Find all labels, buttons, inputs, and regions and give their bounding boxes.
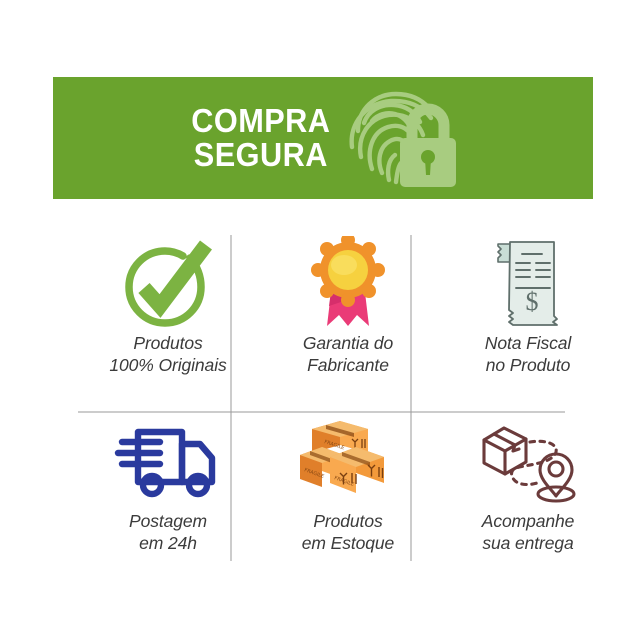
check-circle-icon bbox=[120, 238, 216, 330]
feature-label-line2: em Estoque bbox=[302, 533, 394, 555]
award-ribbon-icon bbox=[305, 236, 391, 332]
banner-title-line1: COMPRA bbox=[191, 104, 330, 138]
feature-label-line2: em 24h bbox=[129, 533, 207, 555]
feature-label-line1: Nota Fiscal bbox=[485, 333, 571, 355]
feature-label-line1: Postagem bbox=[129, 511, 207, 533]
feature-label: Acompanhe sua entrega bbox=[482, 511, 575, 555]
feature-label: Nota Fiscal no Produto bbox=[485, 333, 571, 377]
feature-label-line1: Produtos bbox=[109, 333, 226, 355]
banner-compra-segura: COMPRA SEGURA bbox=[53, 77, 593, 199]
stacked-boxes-icon: FRAGILE FRAGILE bbox=[296, 417, 400, 507]
banner-icon-group bbox=[344, 85, 464, 191]
feature-produtos-estoque: FRAGILE FRAGILE bbox=[258, 413, 438, 591]
feature-label: Garantia do Fabricante bbox=[303, 333, 393, 377]
feature-label-line2: Fabricante bbox=[303, 355, 393, 377]
feature-acompanhe-entrega: Acompanhe sua entrega bbox=[438, 413, 618, 591]
compra-segura-trust-badge: COMPRA SEGURA bbox=[0, 0, 640, 640]
feature-label: Postagem em 24h bbox=[129, 511, 207, 555]
padlock-icon bbox=[344, 85, 464, 191]
box-right: FRAGILE bbox=[330, 447, 384, 493]
feature-icon-wrap bbox=[305, 235, 391, 333]
feature-label-line1: Produtos bbox=[302, 511, 394, 533]
feature-postagem-24h: Postagem em 24h bbox=[78, 413, 258, 591]
feature-garantia-fabricante: Garantia do Fabricante bbox=[258, 235, 438, 413]
dollar-sign-glyph: $ bbox=[526, 287, 539, 316]
feature-label-line1: Garantia do bbox=[303, 333, 393, 355]
feature-icon-wrap bbox=[114, 413, 222, 511]
feature-icon-wrap bbox=[474, 413, 582, 511]
feature-label: Produtos 100% Originais bbox=[109, 333, 226, 377]
banner-title-line2: SEGURA bbox=[191, 138, 330, 172]
features-grid: Produtos 100% Originais bbox=[53, 199, 593, 589]
feature-nota-fiscal: $ Nota Fiscal no Produto bbox=[438, 235, 618, 413]
feature-icon-wrap bbox=[120, 235, 216, 333]
feature-label-line1: Acompanhe bbox=[482, 511, 575, 533]
feature-label-line2: 100% Originais bbox=[109, 355, 226, 377]
feature-label-line2: sua entrega bbox=[482, 533, 575, 555]
feature-label: Produtos em Estoque bbox=[302, 511, 394, 555]
package-tracking-pin-icon bbox=[474, 418, 582, 506]
delivery-truck-icon bbox=[114, 424, 222, 500]
feature-icon-wrap: $ bbox=[488, 235, 568, 333]
invoice-receipt-icon: $ bbox=[488, 236, 568, 332]
feature-label-line2: no Produto bbox=[485, 355, 571, 377]
banner-title: COMPRA SEGURA bbox=[191, 104, 330, 171]
feature-icon-wrap: FRAGILE FRAGILE bbox=[296, 413, 400, 511]
feature-produtos-originais: Produtos 100% Originais bbox=[78, 235, 258, 413]
